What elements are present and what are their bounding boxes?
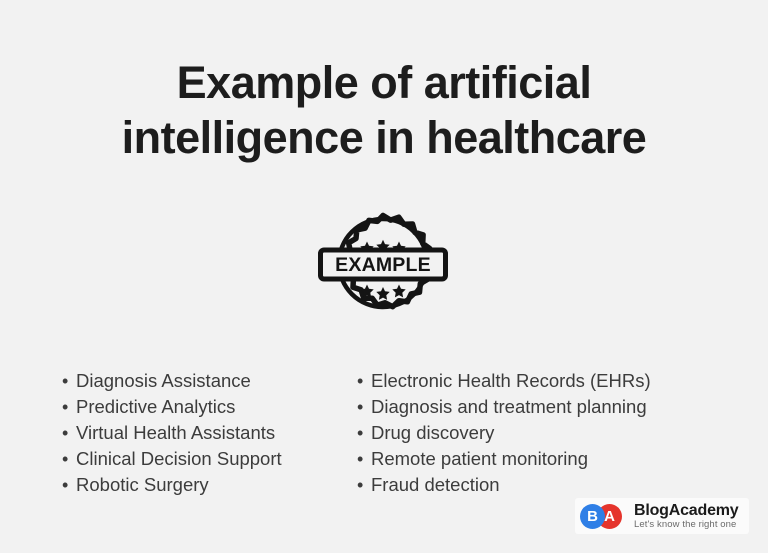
list-item-label: Fraud detection: [371, 472, 500, 498]
list-item: • Predictive Analytics: [62, 394, 282, 420]
bullet-list-left: • Diagnosis Assistance • Predictive Anal…: [62, 368, 282, 498]
example-stamp-icon: EXAMPLE: [312, 198, 454, 328]
bullet-dot-icon: •: [357, 394, 371, 420]
list-item-label: Diagnosis and treatment planning: [371, 394, 647, 420]
bullet-dot-icon: •: [62, 368, 76, 394]
stamp-banner-label: EXAMPLE: [335, 254, 431, 276]
list-item: • Remote patient monitoring: [357, 446, 651, 472]
bullet-dot-icon: •: [62, 446, 76, 472]
page-title-line-2: intelligence in healthcare: [0, 110, 768, 165]
list-item-label: Drug discovery: [371, 420, 494, 446]
list-item-label: Clinical Decision Support: [76, 446, 282, 472]
logo-text-block: BlogAcademy Let's know the right one: [634, 502, 739, 531]
bullet-dot-icon: •: [62, 394, 76, 420]
list-item: • Robotic Surgery: [62, 472, 282, 498]
list-item: • Clinical Decision Support: [62, 446, 282, 472]
list-item-label: Predictive Analytics: [76, 394, 235, 420]
bullet-dot-icon: •: [357, 368, 371, 394]
bullet-dot-icon: •: [62, 472, 76, 498]
page-title-line-1: Example of artificial: [0, 55, 768, 110]
list-item-label: Robotic Surgery: [76, 472, 209, 498]
logo-mark-icon: A B: [580, 502, 628, 530]
list-item: • Fraud detection: [357, 472, 651, 498]
brand-logo[interactable]: A B BlogAcademy Let's know the right one: [575, 498, 749, 534]
list-item-label: Remote patient monitoring: [371, 446, 588, 472]
logo-circle-b: B: [580, 504, 605, 529]
page-title: Example of artificial intelligence in he…: [0, 55, 768, 165]
list-item: • Electronic Health Records (EHRs): [357, 368, 651, 394]
list-item: • Diagnosis Assistance: [62, 368, 282, 394]
list-item: • Virtual Health Assistants: [62, 420, 282, 446]
bullet-list-right: • Electronic Health Records (EHRs) • Dia…: [357, 368, 651, 498]
list-item: • Diagnosis and treatment planning: [357, 394, 651, 420]
logo-name: BlogAcademy: [634, 502, 739, 519]
bullet-dot-icon: •: [62, 420, 76, 446]
logo-tagline: Let's know the right one: [634, 519, 739, 531]
bullet-dot-icon: •: [357, 472, 371, 498]
list-item: • Drug discovery: [357, 420, 651, 446]
bullet-dot-icon: •: [357, 446, 371, 472]
list-item-label: Diagnosis Assistance: [76, 368, 251, 394]
bullet-dot-icon: •: [357, 420, 371, 446]
list-item-label: Electronic Health Records (EHRs): [371, 368, 651, 394]
list-item-label: Virtual Health Assistants: [76, 420, 275, 446]
